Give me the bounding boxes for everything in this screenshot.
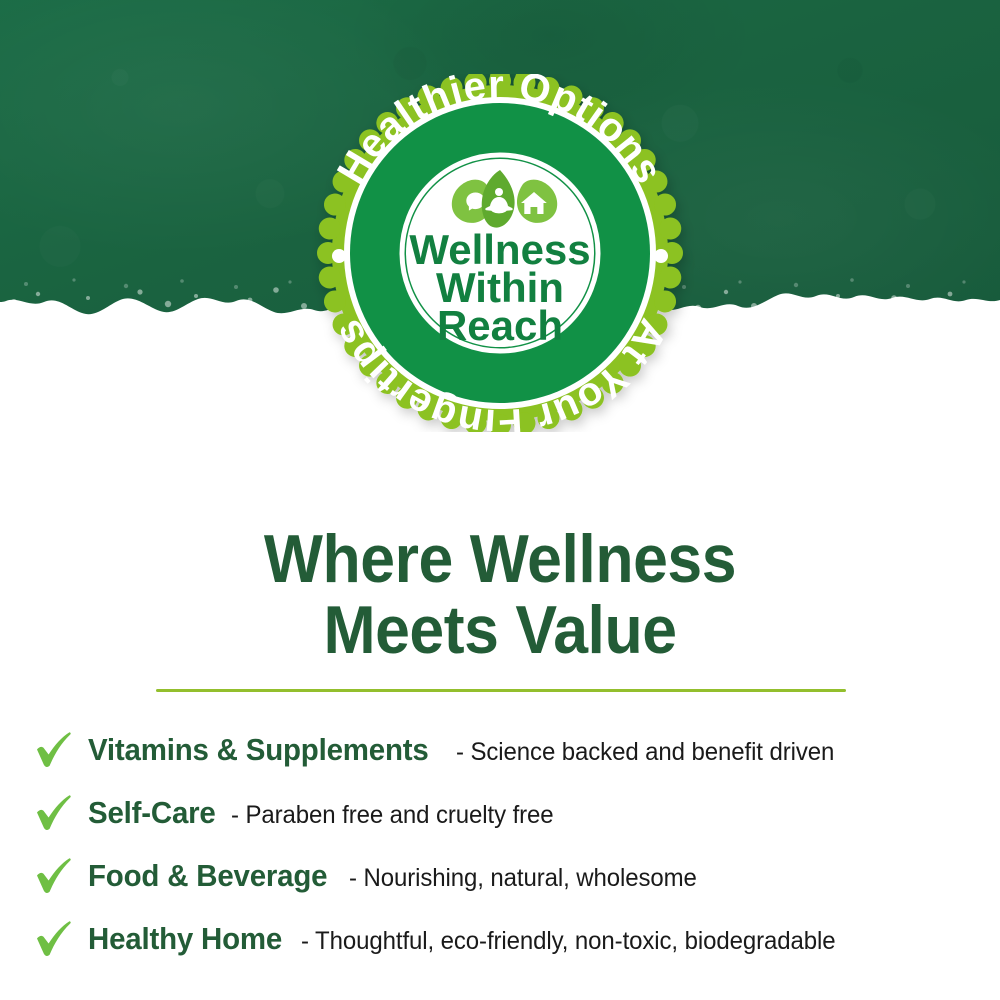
wellness-badge: Healthier Options At Your Fingertips bbox=[305, 74, 695, 432]
promo-page: Healthier Options At Your Fingertips bbox=[0, 0, 1000, 1000]
list-item-description-text: Science backed and benefit driven bbox=[470, 738, 834, 766]
headline-line-2: Meets Value bbox=[40, 595, 960, 666]
list-item-description: - Paraben free and cruelty free bbox=[231, 801, 554, 830]
list-item-separator: - bbox=[231, 801, 239, 829]
list-item-title: Food & Beverage bbox=[88, 858, 327, 894]
list-item-separator: - bbox=[301, 927, 309, 955]
list-item-description: - Science backed and benefit driven bbox=[456, 738, 834, 767]
list-item-text: Healthy Home - Thoughtful, eco-friendly,… bbox=[88, 921, 858, 957]
badge-center-line-3: Reach bbox=[437, 302, 563, 349]
list-item-separator: - bbox=[456, 738, 464, 766]
page-title: Where Wellness Meets Value bbox=[40, 524, 960, 665]
feature-list: Vitamins & Supplements - Science backed … bbox=[0, 718, 1000, 970]
title-divider bbox=[156, 689, 846, 692]
check-icon bbox=[32, 729, 74, 771]
list-item: Vitamins & Supplements - Science backed … bbox=[0, 718, 1000, 781]
badge-dot-left bbox=[332, 249, 346, 263]
list-item: Healthy Home - Thoughtful, eco-friendly,… bbox=[0, 907, 1000, 970]
check-icon bbox=[32, 918, 74, 960]
list-item-description-text: Thoughtful, eco-friendly, non-toxic, bio… bbox=[315, 927, 835, 955]
check-icon bbox=[32, 792, 74, 834]
list-item-text: Self-Care - Paraben free and cruelty fre… bbox=[88, 795, 567, 831]
list-item-title: Healthy Home bbox=[88, 921, 282, 957]
list-item: Self-Care - Paraben free and cruelty fre… bbox=[0, 781, 1000, 844]
list-item-title: Self-Care bbox=[88, 795, 216, 831]
headline-line-1: Where Wellness bbox=[40, 524, 960, 595]
list-item-title: Vitamins & Supplements bbox=[88, 732, 429, 768]
check-icon bbox=[32, 855, 74, 897]
list-item-description-text: Paraben free and cruelty free bbox=[246, 801, 554, 829]
list-item: Food & Beverage - Nourishing, natural, w… bbox=[0, 844, 1000, 907]
badge-dot-right bbox=[654, 249, 668, 263]
list-item-text: Food & Beverage - Nourishing, natural, w… bbox=[88, 858, 711, 894]
list-item-description-text: Nourishing, natural, wholesome bbox=[363, 864, 696, 892]
list-item-text: Vitamins & Supplements - Science backed … bbox=[88, 732, 850, 768]
list-item-description: - Thoughtful, eco-friendly, non-toxic, b… bbox=[301, 927, 835, 956]
list-item-separator: - bbox=[349, 864, 357, 892]
list-item-description: - Nourishing, natural, wholesome bbox=[349, 864, 697, 893]
